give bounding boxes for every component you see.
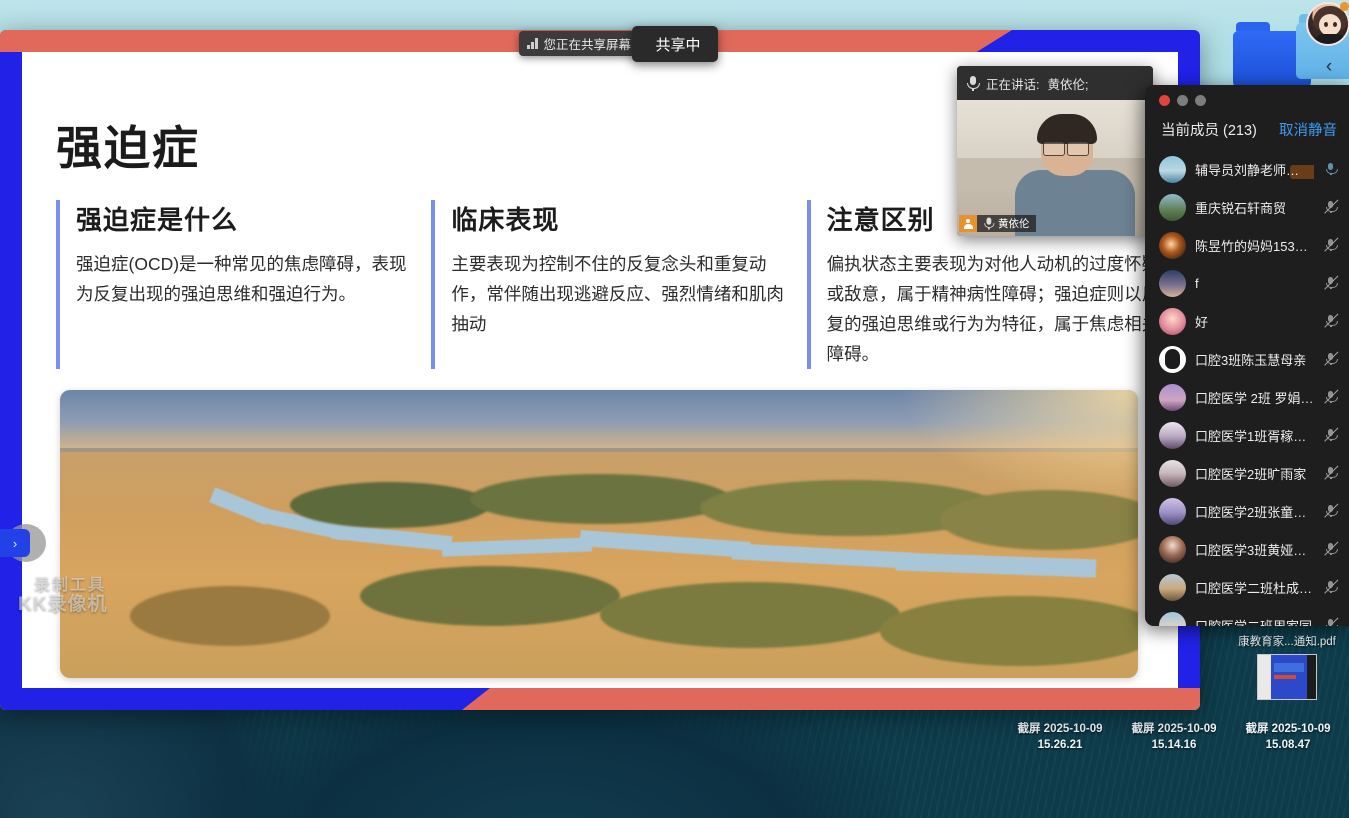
participant-name: 口腔医学二班周家同 <box>1195 616 1314 627</box>
maximize-button[interactable] <box>1195 95 1206 106</box>
person-glasses-right <box>1067 142 1089 156</box>
participant-name: 口腔医学2班旷雨家 <box>1195 464 1314 483</box>
video-feed: 黄依伦 <box>957 100 1153 236</box>
desktop-file-pdf[interactable]: 康教育家...通知.pdf <box>1228 633 1346 700</box>
participant-row[interactable]: 口腔医学1班胥稼豪家长 <box>1145 416 1349 454</box>
participant-row[interactable]: 口腔医学二班周家同 <box>1145 606 1349 626</box>
chevron-left-icon[interactable]: ‹ <box>1314 50 1344 84</box>
photo-vegetation <box>600 582 900 648</box>
participant-avatar <box>1159 346 1186 373</box>
participant-avatar <box>1159 422 1186 449</box>
photo-vegetation <box>290 482 490 528</box>
pdf-file-label: 康教育家...通知.pdf <box>1228 633 1346 649</box>
avatar-eye-right <box>1333 22 1337 27</box>
participant-row[interactable]: 重庆锐石轩商贸 <box>1145 188 1349 226</box>
participant-name: 口腔医学2班张童家长 <box>1195 502 1314 521</box>
screenshot-label-line1: 截屏 2025-10-09 <box>1118 722 1230 738</box>
participant-avatar <box>1159 536 1186 563</box>
slide-column-2: 临床表现 主要表现为控制不住的反复念头和重复动作，常伴随出现逃避反应、强烈情绪和… <box>431 200 784 369</box>
microphone-muted-icon[interactable] <box>1323 237 1339 253</box>
watermark-line1: 录制工具 <box>18 578 148 595</box>
participant-name: 口腔医学3班黄娅家长 <box>1195 540 1314 559</box>
desktop-file-screenshot[interactable]: 截屏 2025-10-09 15.26.21 <box>1004 722 1116 753</box>
minimize-button[interactable] <box>1177 95 1188 106</box>
participant-row[interactable]: 口腔医学 2班 罗娟家长 <box>1145 378 1349 416</box>
watermark-line2: KK录像机 <box>18 595 148 615</box>
slide-title: 强迫症 <box>56 112 200 178</box>
video-nametag-text-wrap: 黄依伦 <box>977 215 1036 232</box>
desktop-file-screenshot[interactable]: 截屏 2025-10-09 15.08.47 <box>1232 722 1344 753</box>
share-status-text: 您正在共享屏幕 <box>544 34 632 53</box>
microphone-muted-icon[interactable] <box>1323 199 1339 215</box>
screenshot-label-line2: 15.26.21 <box>1004 738 1116 754</box>
microphone-muted-icon[interactable] <box>1323 313 1339 329</box>
recorder-watermark: 录制工具 KK录像机 <box>18 578 148 630</box>
microphone-icon[interactable] <box>1323 161 1339 177</box>
participant-name: 重庆锐石轩商贸 <box>1195 198 1314 217</box>
avatar-face <box>1319 14 1341 36</box>
screenshot-label-line1: 截屏 2025-10-09 <box>1004 722 1116 738</box>
slide-photo <box>60 390 1138 678</box>
desktop-file-screenshot[interactable]: 截屏 2025-10-09 15.14.16 <box>1118 722 1230 753</box>
slide-bottom-bar <box>0 688 1200 710</box>
participant-row[interactable]: 好 <box>1145 302 1349 340</box>
microphone-muted-icon[interactable] <box>1323 351 1339 367</box>
unmute-all-button[interactable]: 取消静音 <box>1279 119 1337 140</box>
slide-column-1: 强迫症是什么 强迫症(OCD)是一种常见的焦虑障碍，表现为反复出现的强迫思维和强… <box>56 200 409 369</box>
participants-title: 当前成员 (213) <box>1161 119 1257 140</box>
microphone-muted-icon[interactable] <box>1323 579 1339 595</box>
close-button[interactable] <box>1159 95 1170 106</box>
video-header: 正在讲话: 黄依伦; <box>957 66 1153 101</box>
participant-avatar <box>1159 232 1186 259</box>
microphone-icon <box>967 76 978 91</box>
column-body: 偏执状态主要表现为对他人动机的过度怀疑或敌意，属于精神病性障碍；强迫症则以反复的… <box>827 249 1160 369</box>
person-glasses-left <box>1043 142 1065 156</box>
microphone-icon <box>984 218 993 230</box>
participant-name: 口腔3班陈玉慧母亲 <box>1195 350 1314 369</box>
sharing-indicator-button[interactable]: 共享中 <box>632 26 718 62</box>
participant-row[interactable]: 口腔3班陈玉慧母亲 <box>1145 340 1349 378</box>
video-nametag-text: 黄依伦 <box>998 216 1030 231</box>
participant-row[interactable]: 口腔医学二班杜成俊... <box>1145 568 1349 606</box>
microphone-muted-icon[interactable] <box>1323 389 1339 405</box>
participant-avatar <box>1159 498 1186 525</box>
participant-avatar <box>1159 384 1186 411</box>
participant-avatar <box>1159 156 1186 183</box>
pdf-thumbnail <box>1257 654 1317 700</box>
participant-avatar <box>1159 308 1186 335</box>
participant-name: 口腔医学二班杜成俊... <box>1195 578 1314 597</box>
participant-avatar <box>1159 460 1186 487</box>
photo-vegetation <box>130 586 330 646</box>
avatar-eye-left <box>1324 22 1328 27</box>
column-body: 主要表现为控制不住的反复念头和重复动作，常伴随出现逃避反应、强烈情绪和肌肉抽动 <box>451 249 784 339</box>
participant-name: 辅导员刘静老师群主 <box>1195 160 1314 179</box>
slide-bottom-bar-blue <box>0 688 700 710</box>
photo-vegetation <box>470 474 730 524</box>
speaking-label: 正在讲话: <box>986 74 1039 93</box>
microphone-muted-icon[interactable] <box>1323 541 1339 557</box>
participant-row[interactable]: 辅导员刘静老师群主 <box>1145 150 1349 188</box>
participant-row[interactable]: 陈昱竹的妈妈153083... <box>1145 226 1349 264</box>
participant-avatar <box>1159 612 1186 627</box>
screenshot-label-line2: 15.08.47 <box>1232 738 1344 754</box>
window-traffic-lights <box>1145 85 1349 115</box>
participant-avatar <box>1159 270 1186 297</box>
photo-vegetation <box>360 566 620 626</box>
signal-bars-icon <box>527 38 538 49</box>
participant-name: 陈昱竹的妈妈153083... <box>1195 236 1314 255</box>
participant-name: 口腔医学1班胥稼豪家长 <box>1195 426 1314 445</box>
person-icon <box>959 215 977 232</box>
screenshot-label-line2: 15.14.16 <box>1118 738 1230 754</box>
column-heading: 强迫症是什么 <box>76 200 409 237</box>
sharing-indicator-label: 共享中 <box>655 34 700 55</box>
participant-row[interactable]: f <box>1145 264 1349 302</box>
microphone-muted-icon[interactable] <box>1323 465 1339 481</box>
participants-list[interactable]: 辅导员刘静老师群主重庆锐石轩商贸陈昱竹的妈妈153083...f好口腔3班陈玉慧… <box>1145 150 1349 626</box>
microphone-muted-icon[interactable] <box>1323 275 1339 291</box>
participant-avatar <box>1159 194 1186 221</box>
microphone-muted-icon[interactable] <box>1323 617 1339 626</box>
slide-top-bar-red <box>0 30 1012 52</box>
participant-name: f <box>1195 276 1314 291</box>
person-hair <box>1037 114 1097 144</box>
column-body: 强迫症(OCD)是一种常见的焦虑障碍，表现为反复出现的强迫思维和强迫行为。 <box>76 249 409 309</box>
participant-avatar <box>1159 574 1186 601</box>
speaking-name: 黄依伦; <box>1047 74 1088 93</box>
share-status-toolbar[interactable]: 您正在共享屏幕 <box>519 31 639 56</box>
microphone-muted-icon[interactable] <box>1323 503 1339 519</box>
participant-row[interactable]: 口腔医学2班张童家长 <box>1145 492 1349 530</box>
video-nametag: 黄依伦 <box>959 215 1036 232</box>
column-heading: 临床表现 <box>451 200 784 237</box>
participant-name: 口腔医学 2班 罗娟家长 <box>1195 388 1314 407</box>
screenshot-label-line1: 截屏 2025-10-09 <box>1232 722 1344 738</box>
chevron-right-icon[interactable]: › <box>0 529 30 557</box>
microphone-muted-icon[interactable] <box>1323 427 1339 443</box>
participant-row[interactable]: 口腔医学3班黄娅家长 <box>1145 530 1349 568</box>
participants-header: 当前成员 (213) 取消静音 <box>1145 115 1349 150</box>
participant-row[interactable]: 口腔医学2班旷雨家 <box>1145 454 1349 492</box>
status-dot <box>1340 2 1349 11</box>
participant-name: 好 <box>1195 312 1314 331</box>
host-badge: 群主 <box>1290 165 1314 179</box>
floating-video-window[interactable]: 正在讲话: 黄依伦; 黄依伦 <box>957 66 1153 236</box>
folder-tab <box>1236 22 1270 31</box>
participants-panel: 当前成员 (213) 取消静音 辅导员刘静老师群主重庆锐石轩商贸陈昱竹的妈妈15… <box>1145 85 1349 626</box>
